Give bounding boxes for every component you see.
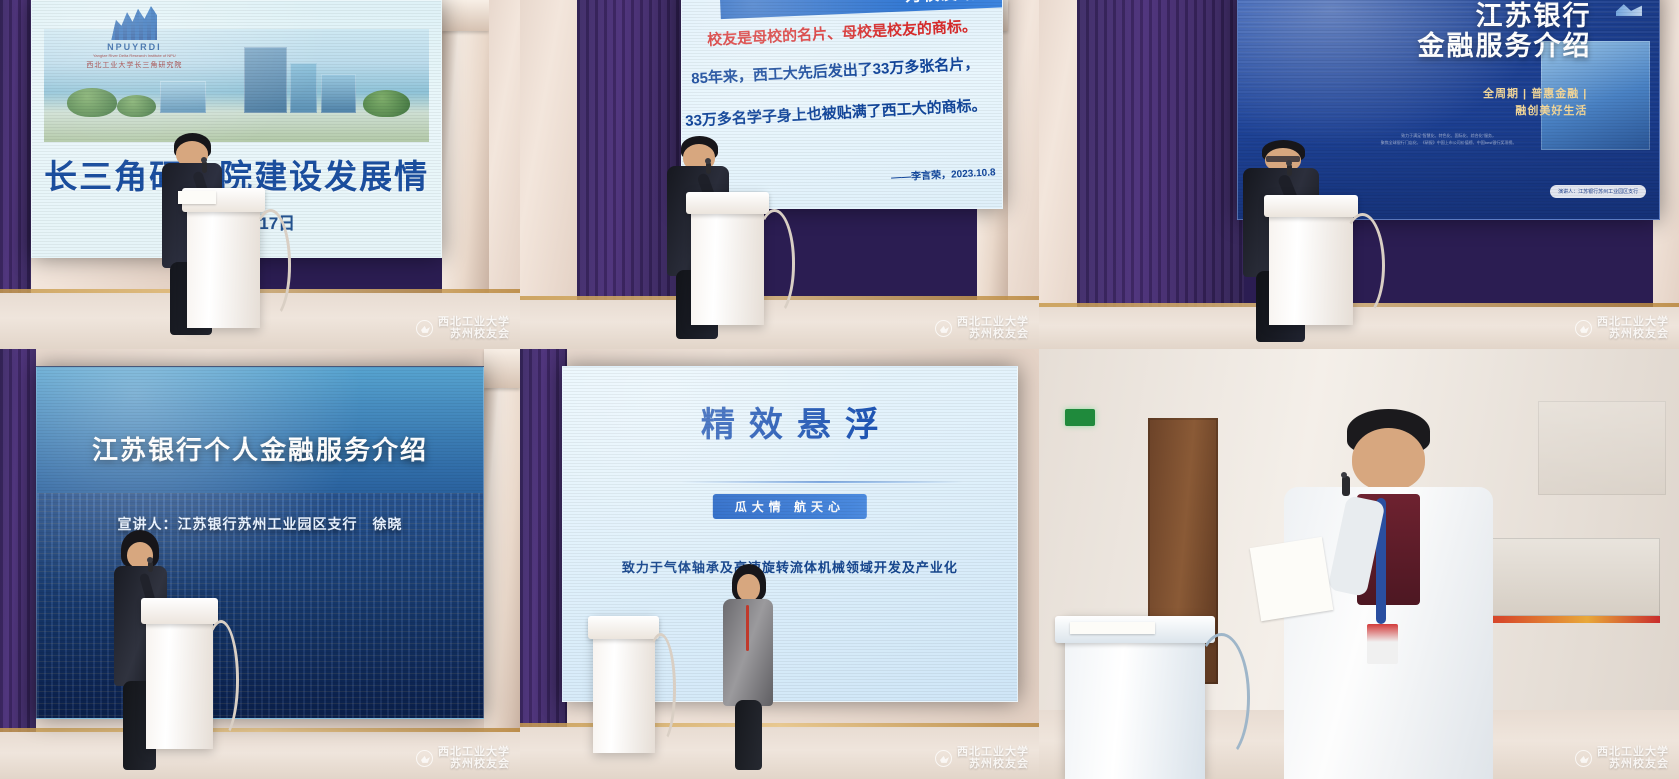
panel-6-bottom-right[interactable]: 西北工业大学 苏州校友会 [1039, 349, 1679, 779]
slide3-fine-print: 致力于满足"智慧化、特色化、国际化、综合化"服务， 聚焦全球银行门店化、《研报》… [1331, 132, 1566, 146]
podium-side-hook [754, 209, 796, 317]
glasses-icon [1266, 156, 1300, 162]
hall-pillar [484, 349, 520, 779]
id-badge [1367, 624, 1399, 665]
slide5-divider [681, 481, 963, 483]
podium-papers [1070, 622, 1154, 633]
slide2-line-1: 校友是母校的名片、母校是校友的商标。 [707, 15, 978, 50]
slide1-logo-cn: 西北工业大学长三角研究院 [86, 60, 182, 70]
stage-curtain [0, 349, 36, 779]
lanyard [746, 605, 749, 650]
podium-top [1264, 195, 1359, 217]
photo-collage: NPUYRDI Yangtze River Delta Research Ins… [0, 0, 1679, 779]
slide1-institute-logo: NPUYRDI Yangtze River Delta Research Ins… [77, 6, 191, 93]
speaker-person-5 [717, 564, 779, 770]
podium-side-hook [250, 209, 292, 321]
podium-2 [691, 192, 764, 325]
speaker-person-6 [1269, 409, 1512, 779]
panel-3-top-right[interactable]: 江苏银行 金融服务介绍 全周期 | 普惠金融 | 融创美好生活 致力于满足"智慧… [1039, 0, 1679, 349]
slide4-title: 江苏银行个人金融服务介绍 [37, 430, 482, 467]
podium-top [588, 616, 659, 639]
head [1352, 428, 1425, 491]
slide3-subtitle-line2: 融创美好生活 [1483, 103, 1587, 120]
podium-side-hook [1340, 213, 1385, 318]
slide1-logo-en: NPUYRDI [107, 42, 162, 52]
podium-side-hook [203, 620, 239, 740]
stage-curtain [520, 349, 567, 779]
microphone [202, 161, 207, 173]
podium-side-hook [645, 633, 676, 745]
exit-sign-icon [1065, 409, 1095, 426]
microphone [706, 162, 711, 174]
slide5-title: 精效悬浮 [563, 397, 1018, 446]
slide3-presenter-pill: 演讲人：江苏银行苏州工业园区支行 [1550, 185, 1646, 198]
microphone [1342, 476, 1350, 496]
panel-2-top-center[interactable]: 为校友站台 校友是母校的名片、母校是校友的商标。 85年来，西工大先后发出了33… [520, 0, 1039, 349]
slide2-line-2: 85年来，西工大先后发出了33万多张名片， [691, 53, 980, 89]
slide3-title: 江苏银行 金融服务介绍 [1418, 2, 1592, 61]
slide1-logo-sub: Yangtze River Delta Research Institute o… [93, 53, 176, 58]
podium-side-hook [1193, 633, 1251, 762]
podium-papers [178, 191, 216, 204]
panel-4-bottom-left[interactable]: 江苏银行个人金融服务介绍 宣讲人：江苏银行苏州工业园区支行 徐晓 西北工业大学 … [0, 349, 520, 779]
legs [735, 700, 762, 770]
podium-1 [187, 188, 260, 328]
slide3-title-line1: 江苏银行 [1418, 2, 1592, 32]
microphone [148, 561, 153, 572]
podium-6 [1065, 616, 1206, 779]
panel-1-top-left[interactable]: NPUYRDI Yangtze River Delta Research Ins… [0, 0, 520, 349]
head [737, 574, 759, 601]
stage-floor-edge [0, 728, 520, 732]
stage-curtain [1077, 0, 1243, 349]
slide5-badge: 瓜大情 航天心 [713, 494, 867, 519]
slide3-title-line2: 金融服务介绍 [1418, 32, 1592, 62]
slide5-body-text: 致力于气体轴承及高速旋转流体机械领域开发及产业化 [563, 557, 1018, 576]
slide3-subtitle-line1: 全周期 | 普惠金融 | [1483, 86, 1587, 103]
stage-floor [0, 732, 520, 779]
microphone [1287, 164, 1292, 176]
slide2-line-3: 33万多名学子身上也被贴满了西工大的商标。 [685, 94, 987, 131]
wall-panel-right [1538, 401, 1666, 496]
held-papers [1249, 537, 1333, 621]
podium-top [686, 192, 769, 215]
slide3-fine-line1: 致力于满足"智慧化、特色化、国际化、综合化"服务， [1331, 132, 1566, 139]
slide3-fine-line2: 聚焦全球银行门店化、《研报》中国上市公司价值榜、中国best银行奖项榜。 [1331, 139, 1566, 146]
slide2-attribution: ——李言荣，2023.10.8 [890, 164, 995, 184]
panel-5-bottom-center[interactable]: 精效悬浮 瓜大情 航天心 致力于气体轴承及高速旋转流体机械领域开发及产业化 西北… [520, 349, 1039, 779]
npuyrdi-logo-icon [111, 6, 157, 40]
slide3-subtitle: 全周期 | 普惠金融 | 融创美好生活 [1483, 86, 1587, 119]
podium-top [141, 598, 218, 624]
